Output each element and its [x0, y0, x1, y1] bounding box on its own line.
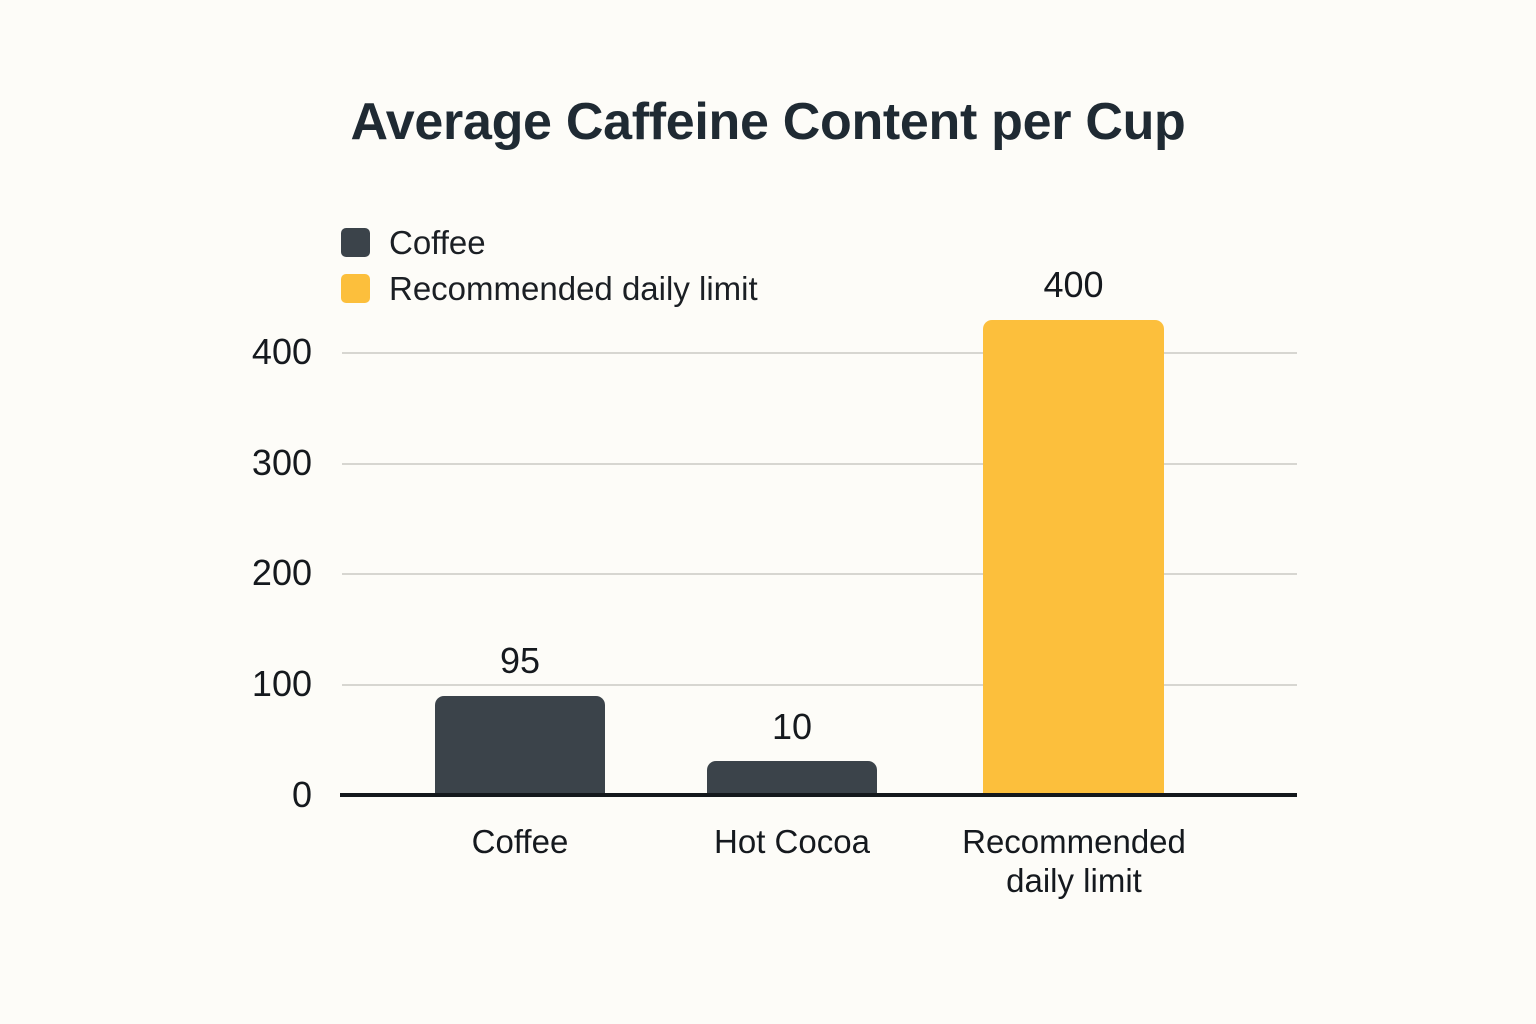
bar-value-coffee: 95 — [435, 643, 605, 679]
y-tick-label-400: 400 — [222, 334, 312, 370]
y-tick-label-0: 0 — [222, 777, 312, 813]
x-axis-label-coffee: Coffee — [420, 823, 620, 862]
bar-coffee[interactable] — [435, 696, 605, 793]
bar-recommended-daily-limit[interactable] — [983, 320, 1164, 793]
x-axis-label-recommended-daily-limit-line-2: daily limit — [928, 862, 1220, 901]
bar-hot-cocoa[interactable] — [707, 761, 877, 793]
y-tick-label-300: 300 — [222, 445, 312, 481]
x-axis-line — [340, 793, 1297, 797]
y-tick-label-100: 100 — [222, 666, 312, 702]
bar-value-recommended-daily-limit: 400 — [983, 267, 1164, 303]
x-axis-label-hot-cocoa-line-1: Hot Cocoa — [682, 823, 902, 862]
plot-area: 400 300 200 100 0 95 10 400 Coffee Hot C… — [0, 0, 1536, 1024]
x-axis-label-recommended-daily-limit-line-1: Recommended — [928, 823, 1220, 862]
chart-canvas: Average Caffeine Content per Cup Coffee … — [0, 0, 1536, 1024]
x-axis-label-hot-cocoa: Hot Cocoa — [682, 823, 902, 862]
x-axis-label-recommended-daily-limit: Recommended daily limit — [928, 823, 1220, 901]
x-axis-label-coffee-line-1: Coffee — [420, 823, 620, 862]
y-tick-label-200: 200 — [222, 555, 312, 591]
bar-value-hot-cocoa: 10 — [707, 709, 877, 745]
